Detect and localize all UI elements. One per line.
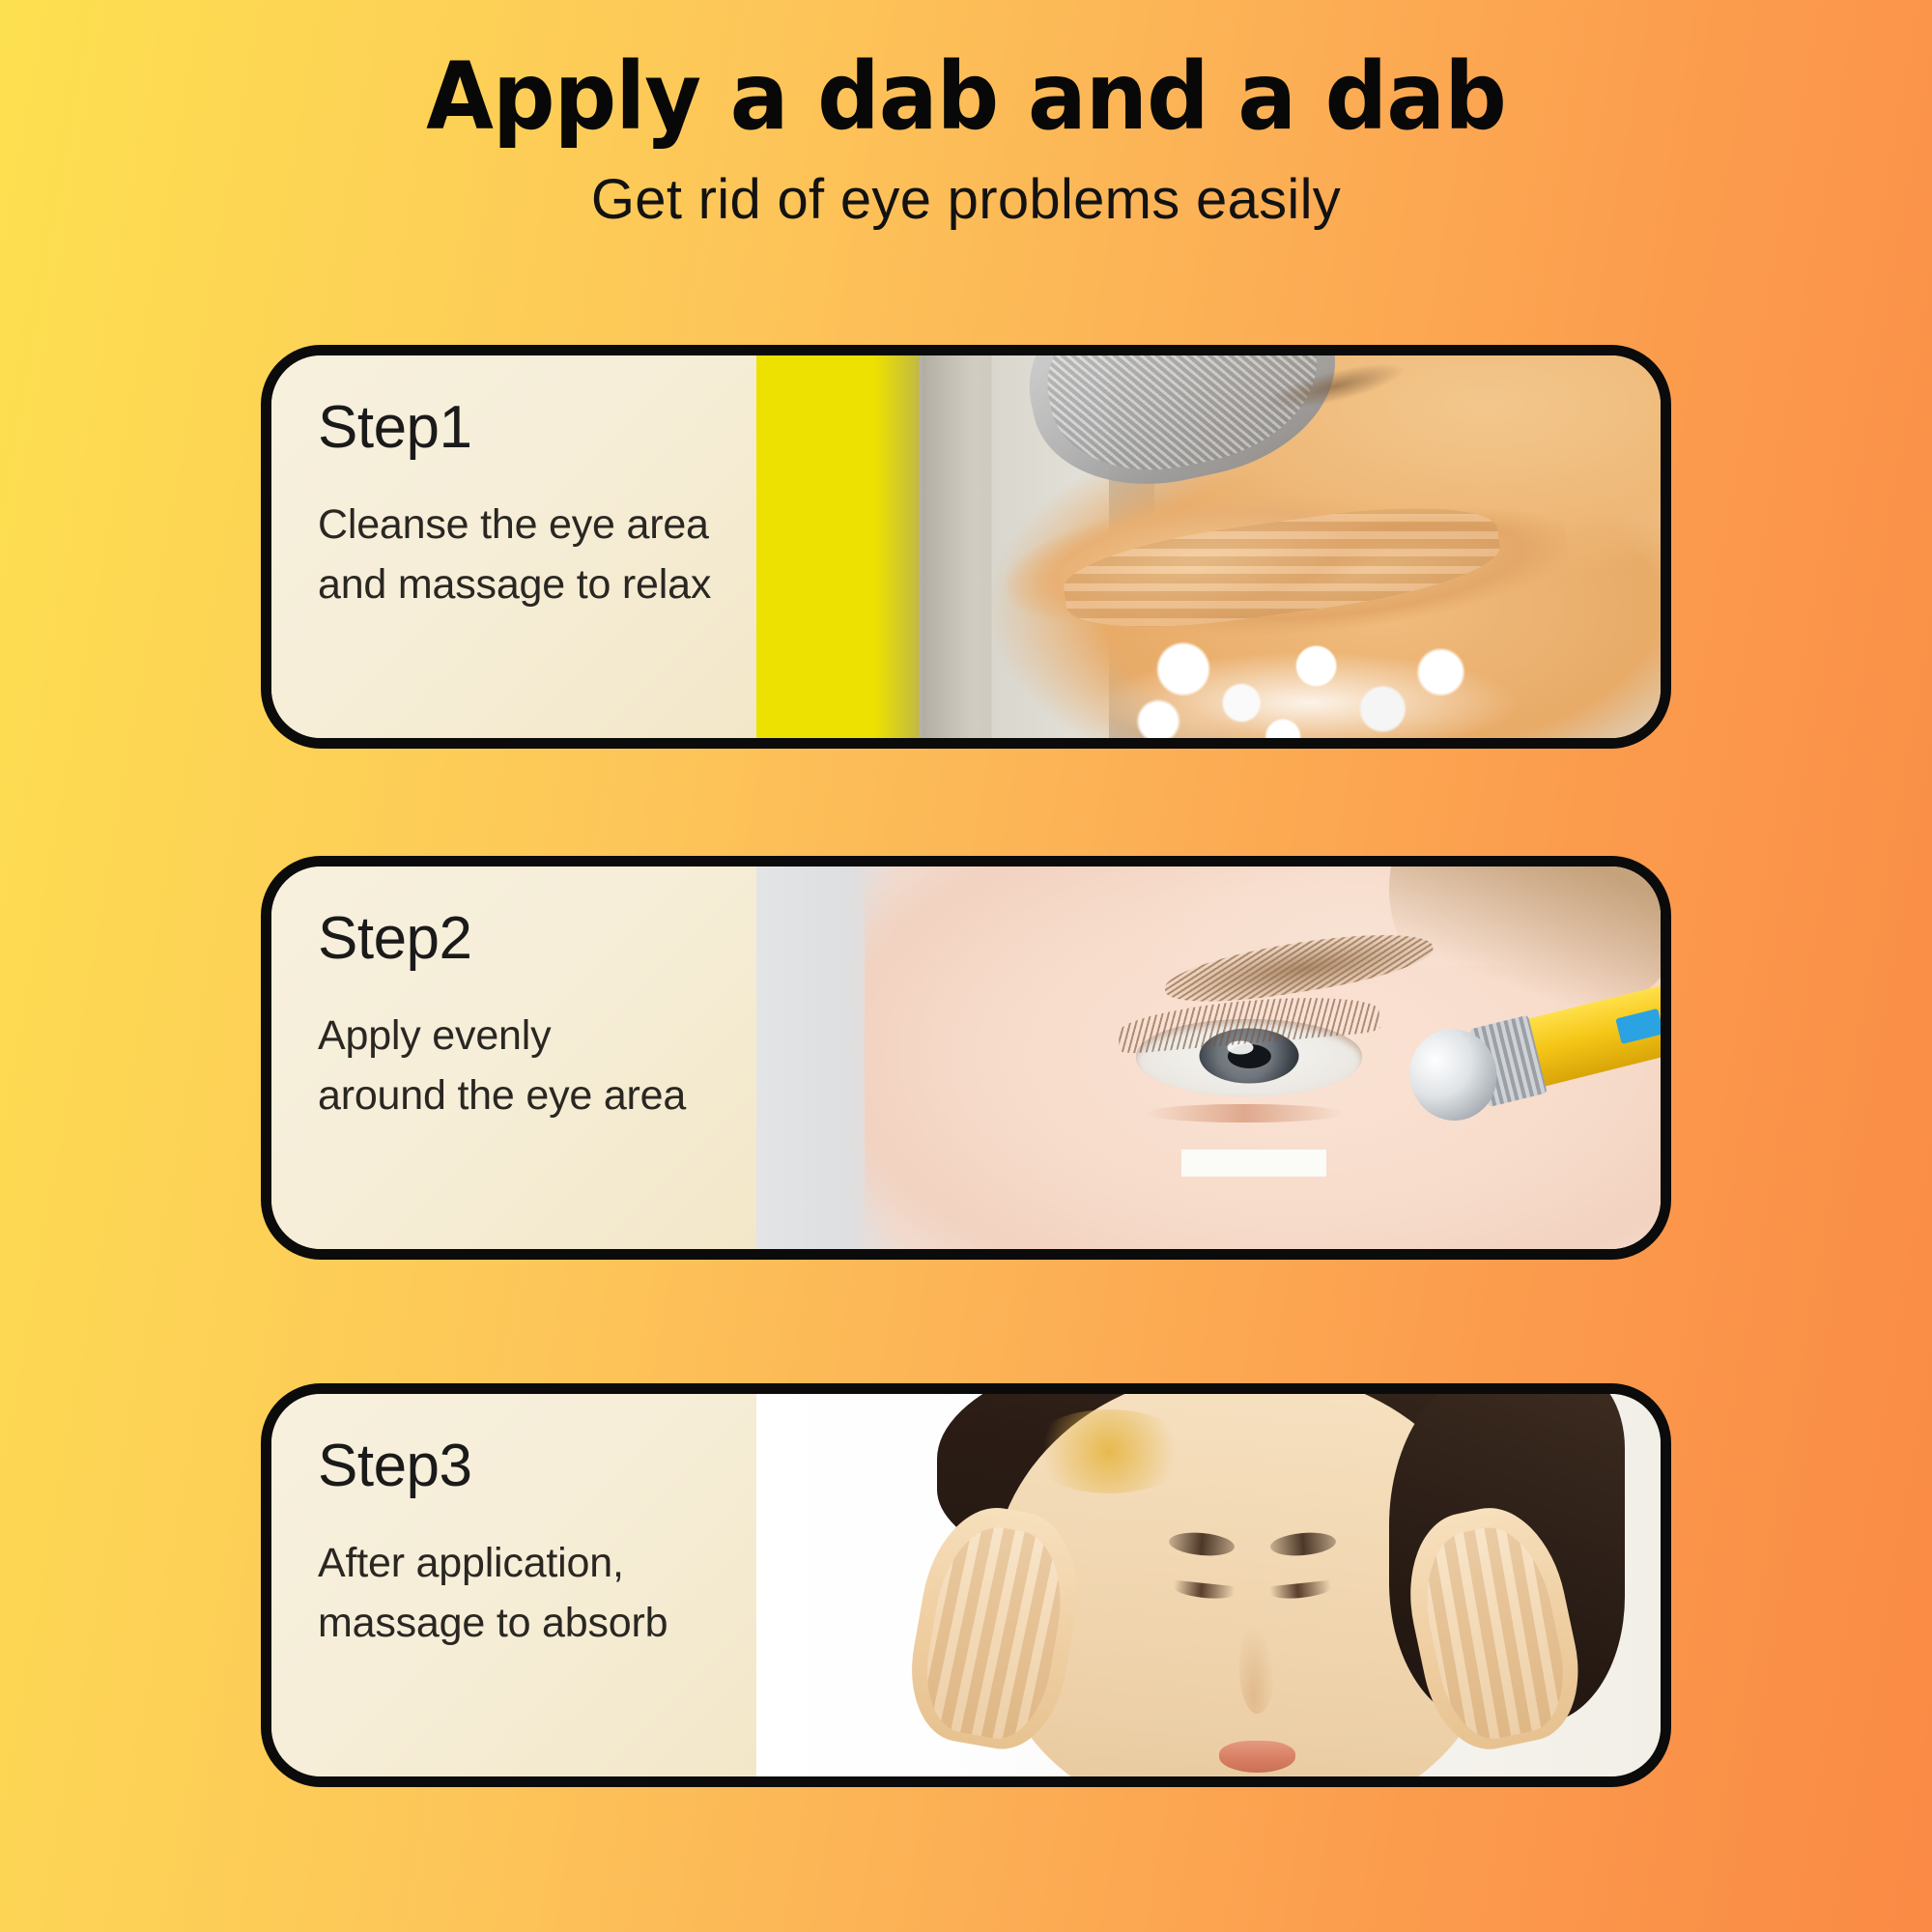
photo-under-eye-line (1145, 1104, 1344, 1123)
step-3-photo (756, 1394, 1661, 1776)
step-2-label: Step2 (318, 909, 756, 969)
photo-tube-label (1615, 1008, 1661, 1044)
step-2-text-panel: Step2 Apply evenly around the eye area (271, 867, 756, 1249)
photo-eyebrow-right (1269, 1531, 1337, 1559)
step-1-text-panel: Step1 Cleanse the eye area and massage t… (271, 355, 756, 738)
promo-poster: Apply a dab and a dab Get rid of eye pro… (0, 0, 1932, 1932)
step-card-2: Step2 Apply evenly around the eye area (261, 856, 1671, 1260)
photo-lips (1219, 1741, 1295, 1773)
step-card-3: Step3 After application, massage to abso… (261, 1383, 1671, 1787)
step-2-photo (756, 867, 1661, 1249)
step-2-description-line-1: Apply evenly (318, 1006, 756, 1065)
photo-nose (1239, 1624, 1275, 1714)
step-3-text-panel: Step3 After application, massage to abso… (271, 1394, 756, 1776)
step-1-label: Step1 (318, 398, 756, 458)
photo-eye-left-closed (1173, 1580, 1235, 1601)
poster-header: Apply a dab and a dab Get rid of eye pro… (0, 0, 1932, 228)
step-card-1: Step1 Cleanse the eye area and massage t… (261, 345, 1671, 749)
photo-cream-dots (1181, 1150, 1326, 1177)
page-subtitle: Get rid of eye problems easily (0, 143, 1932, 228)
photo-warm-glow (1028, 1409, 1190, 1493)
step-1-description: Cleanse the eye area and massage to rela… (318, 495, 756, 615)
photo-eyebrow-left (1168, 1531, 1236, 1559)
step-2-description: Apply evenly around the eye area (318, 1006, 756, 1126)
step-3-description-line-1: After application, (318, 1533, 756, 1593)
photo-eye-right-closed (1269, 1580, 1331, 1601)
step-1-photo (756, 355, 1661, 738)
step-3-description-line-2: massage to absorb (318, 1593, 756, 1653)
step-1-description-line-2: and massage to relax (318, 554, 756, 614)
page-title: Apply a dab and a dab (58, 50, 1874, 143)
step-2-description-line-2: around the eye area (318, 1065, 756, 1125)
photo-water-foam (1100, 608, 1517, 738)
step-3-label: Step3 (318, 1436, 756, 1496)
step-3-description: After application, massage to absorb (318, 1533, 756, 1654)
step-1-description-line-1: Cleanse the eye area (318, 495, 756, 554)
